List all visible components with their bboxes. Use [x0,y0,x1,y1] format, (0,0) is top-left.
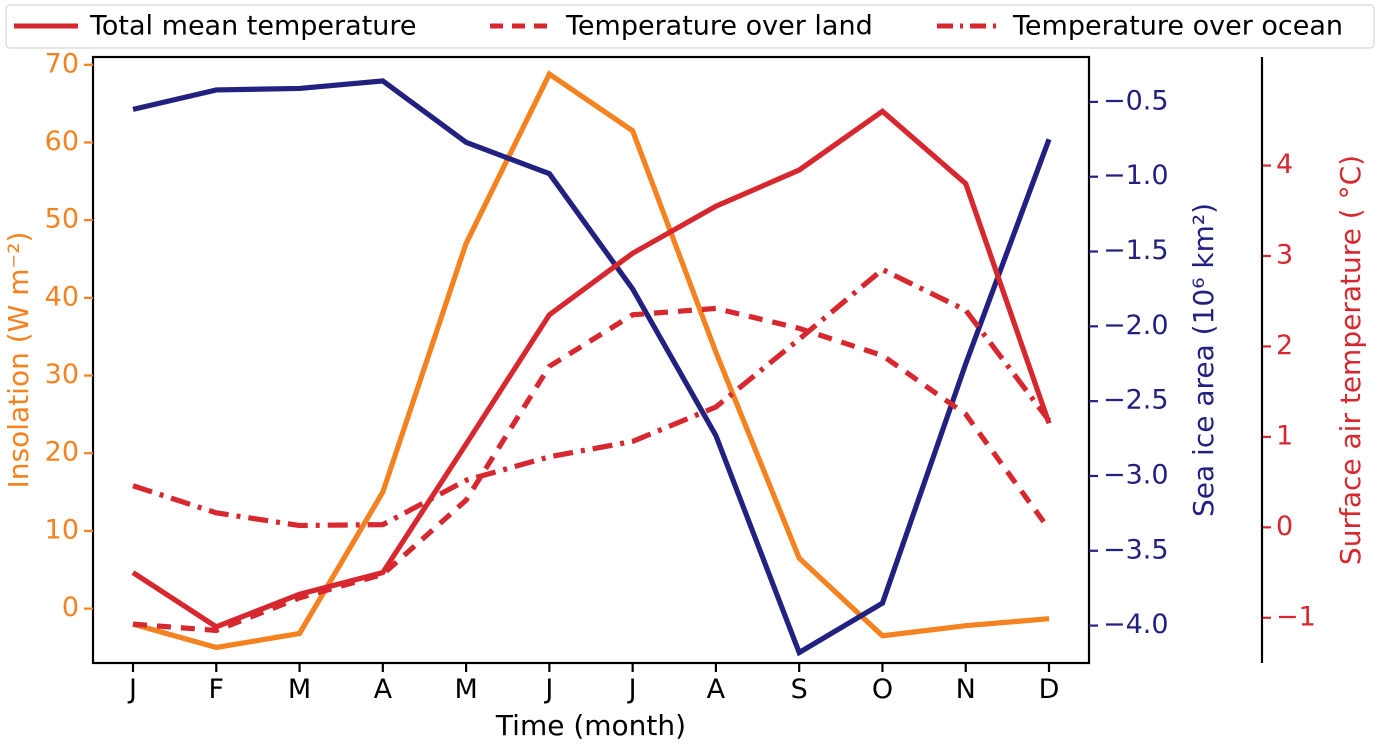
y-axis-right-1-tick-label: −3.0 [1103,459,1169,490]
x-axis-tick-label: S [791,674,808,705]
y-axis-right-2-tick-label: 1 [1276,420,1293,451]
figure-container: Total mean temperature Temperature over … [0,0,1380,749]
y-axis-left-tick-label: 70 [45,48,79,79]
x-axis-tick-label: M [454,674,477,705]
legend-label-temperature-over-land: Temperature over land [565,11,873,42]
y-axis-left-tick-label: 30 [45,359,79,390]
chart-legend: Total mean temperature Temperature over … [6,5,1374,48]
y-axis-right-1-tick-label: −0.5 [1103,85,1169,116]
y-axis-left-tick-label: 40 [45,281,79,312]
y-axis-left-tick-label: 0 [62,592,79,623]
y-axis-left-tick-label: 60 [45,126,79,157]
x-axis-tick-label: J [543,674,553,705]
plot-area [93,57,1089,663]
x-axis-tick-label: J [627,674,637,705]
multi-axis-line-chart: Total mean temperature Temperature over … [0,0,1380,749]
x-axis-tick-label: J [127,674,137,705]
y-axis-right-2-tick-label: 0 [1276,511,1293,542]
y-axis-right-2-tick-label: 4 [1276,149,1293,180]
x-axis-tick-label: M [288,674,311,705]
y-axis-right-2-tick-label: 3 [1276,239,1293,270]
x-axis-tick-label: A [374,674,393,705]
x-axis-tick-label: D [1039,674,1060,705]
y-axis-left-tick-label: 50 [45,204,79,235]
y-axis-right-1-tick-label: −2.5 [1103,385,1169,416]
y-axis-right-1-tick-label: −4.0 [1103,609,1169,640]
y-axis-right-2-tick-label: −1 [1276,601,1316,632]
x-axis-tick-label: O [872,674,893,705]
y-axis-left-tick-label: 20 [45,437,79,468]
x-axis-tick-label: N [956,674,976,705]
y-axis-right-1-tick-label: −1.5 [1103,235,1169,266]
legend-label-temperature-over-ocean: Temperature over ocean [1012,11,1343,42]
y-axis-right-1-title: Sea ice area (10⁶ km²) [1187,203,1220,517]
y-axis-right-2-tick-label: 2 [1276,330,1293,361]
x-axis-title: Time (month) [495,709,686,742]
x-axis-tick-label: F [209,674,225,705]
y-axis-right-1-tick-label: −3.5 [1103,534,1169,565]
y-axis-left-tick-label: 10 [45,514,79,545]
y-axis-right-1-tick-label: −2.0 [1103,310,1169,341]
y-axis-right-1-tick-label: −1.0 [1103,160,1169,191]
x-axis-tick-label: A [707,674,726,705]
y-axis-right-2-title: Surface air temperature ( °C) [1334,155,1367,565]
y-axis-left-title: Insolation (W m⁻²) [2,232,35,489]
legend-label-total-mean-temperature: Total mean temperature [89,11,417,42]
